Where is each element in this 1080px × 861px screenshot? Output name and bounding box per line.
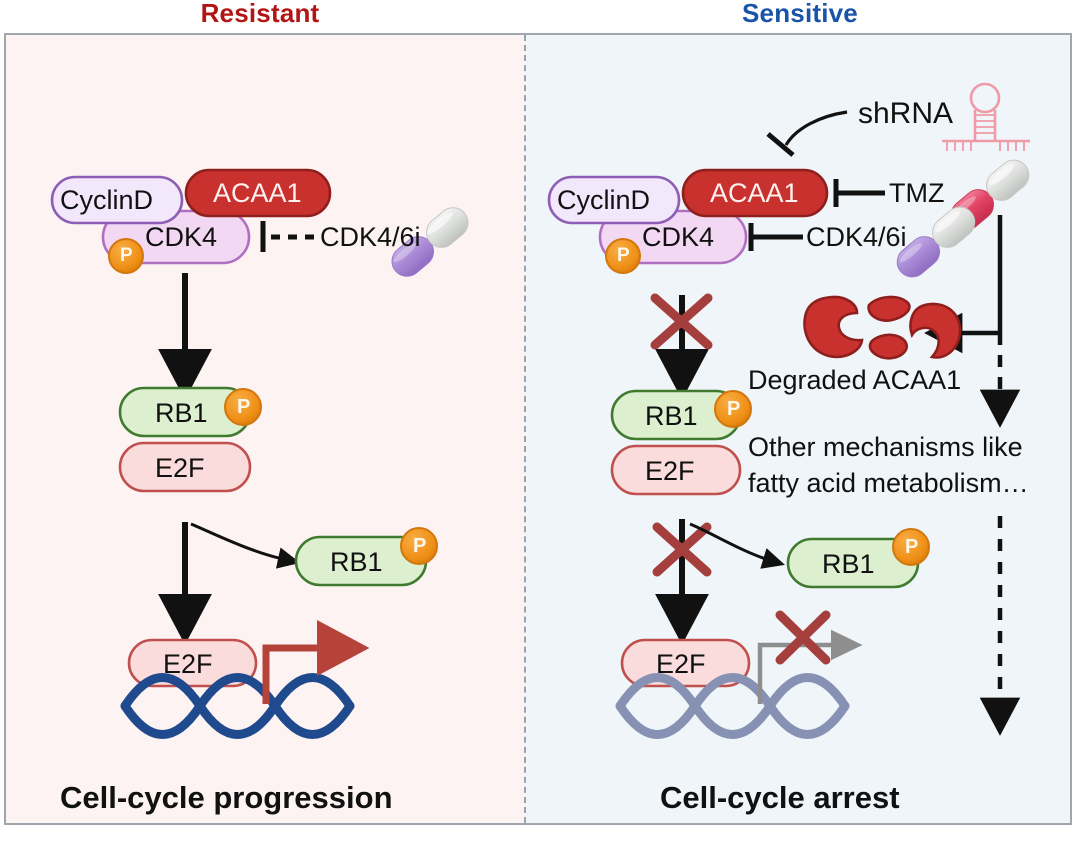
label-acaa1-left: ACAA1 — [213, 178, 302, 209]
label-shrna: shRNA — [858, 97, 953, 131]
label-e2f-dna-left: E2F — [163, 649, 213, 680]
footer-resistant: Cell-cycle progression — [60, 780, 393, 816]
label-cdk46i-left: CDK4/6i — [320, 222, 421, 253]
label-acaa1-right: ACAA1 — [710, 178, 799, 209]
label-phospho-rb1-right: P — [727, 398, 740, 421]
label-cyclind-left: CyclinD — [60, 185, 153, 216]
panel-title-resistant: Resistant — [0, 0, 520, 29]
panel-divider — [524, 35, 526, 823]
label-cdk4-right: CDK4 — [642, 222, 714, 253]
label-cyclind-right: CyclinD — [557, 185, 650, 216]
label-rb1-free-left: RB1 — [330, 547, 383, 578]
panel-sensitive — [526, 35, 1070, 823]
label-tmz: TMZ — [889, 178, 944, 209]
label-degraded-acaa1: Degraded ACAA1 — [748, 365, 961, 396]
panel-title-sensitive: Sensitive — [520, 0, 1080, 29]
label-e2f-complex-right: E2F — [645, 456, 695, 487]
label-e2f-dna-right: E2F — [656, 649, 706, 680]
label-rb1-free-right: RB1 — [822, 549, 875, 580]
label-phospho-rb1-left: P — [237, 396, 250, 419]
label-rb1-complex-right: RB1 — [645, 401, 698, 432]
label-other-mechanisms-line2: fatty acid metabolism… — [748, 468, 1029, 499]
label-phospho-cdk4-left: P — [120, 245, 133, 267]
label-other-mechanisms-line1: Other mechanisms like — [748, 432, 1023, 463]
panel-container — [4, 33, 1072, 825]
label-cdk4-left: CDK4 — [145, 222, 217, 253]
figure-canvas: Resistant Sensitive — [0, 0, 1080, 861]
label-phospho-rb1-free-right: P — [905, 536, 918, 559]
label-phospho-cdk4-right: P — [617, 245, 630, 267]
label-phospho-rb1-free-left: P — [413, 535, 426, 558]
footer-sensitive: Cell-cycle arrest — [660, 780, 900, 816]
label-cdk46i-right: CDK4/6i — [806, 222, 907, 253]
label-e2f-complex-left: E2F — [155, 453, 205, 484]
panel-resistant — [6, 35, 526, 823]
label-rb1-complex-left: RB1 — [155, 398, 208, 429]
